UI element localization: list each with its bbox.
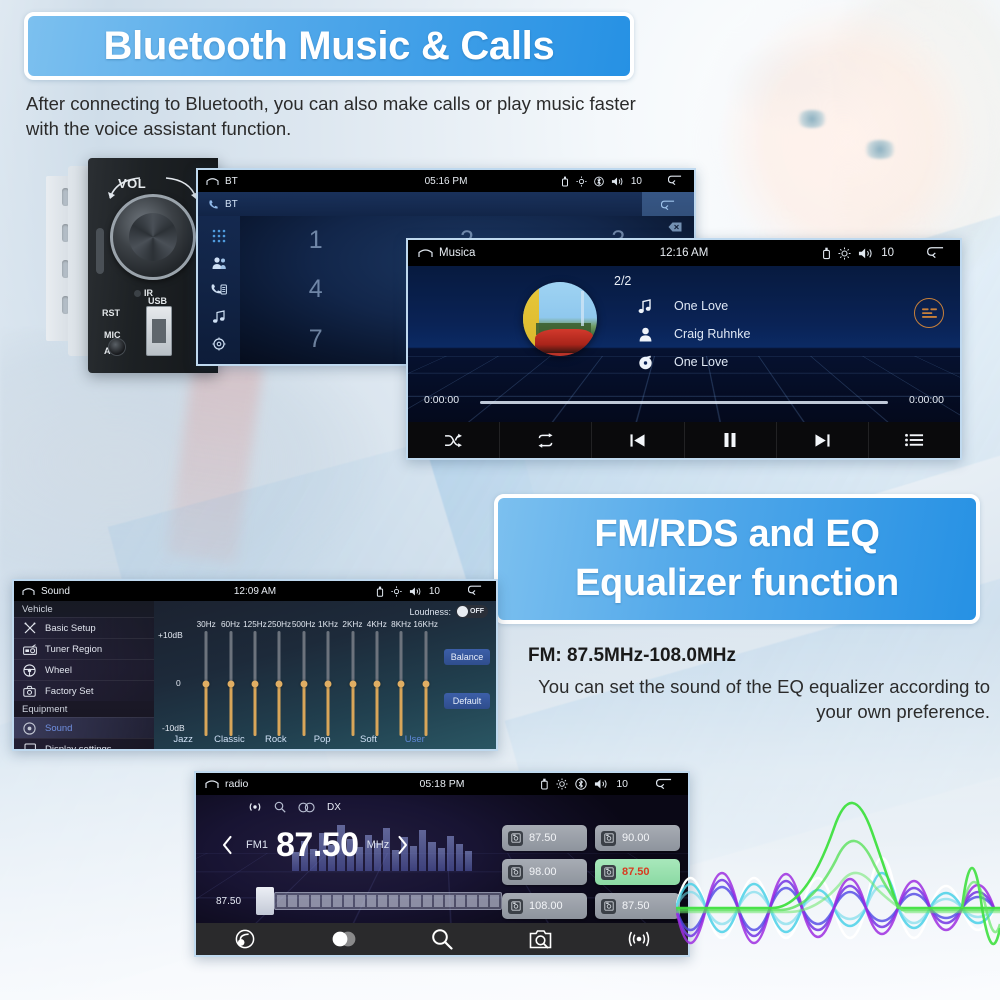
dial-key[interactable]: 1 <box>309 226 323 255</box>
axis-label-mid: 0 <box>176 678 181 688</box>
eq-status-bar: Sound 12:09 AM 10 <box>14 581 496 601</box>
track-title: One Love <box>674 299 728 313</box>
settings-icon[interactable] <box>207 332 231 356</box>
frequency-unit: MHz <box>367 839 390 851</box>
eq-slider[interactable] <box>316 631 340 736</box>
loudness-icon[interactable] <box>294 930 392 948</box>
preset-pop[interactable]: Pop <box>299 734 345 745</box>
eq-slider-group[interactable] <box>194 631 438 736</box>
sidebar-item-basic-setup[interactable]: Basic Setup <box>14 617 154 638</box>
playlist-icon[interactable] <box>869 422 960 458</box>
preset-button[interactable]: 90.00 <box>595 825 680 851</box>
home-icon[interactable] <box>206 177 219 186</box>
album-art <box>523 282 597 356</box>
band-label: 16KHz <box>413 620 438 629</box>
rds-af-icon[interactable] <box>196 929 294 949</box>
bt-back-button[interactable] <box>642 192 694 216</box>
preset-save-icon <box>601 831 616 846</box>
sidebar-label: Factory Set <box>45 686 94 697</box>
dial-key[interactable]: 4 <box>309 275 323 304</box>
bt-volume-level: 10 <box>631 176 642 187</box>
track-artist-row: Craig Ruhnke <box>636 320 750 348</box>
factory-icon <box>22 685 37 697</box>
tools-icon <box>22 622 37 634</box>
back-icon[interactable] <box>656 777 672 789</box>
sound-equalizer-screen[interactable]: Sound 12:09 AM 10 Vehicle B <box>12 579 498 751</box>
display-icon <box>22 743 37 751</box>
eq-slider[interactable] <box>292 631 316 736</box>
eq-slider[interactable] <box>243 631 267 736</box>
sound-waveform-decor <box>676 768 1000 1000</box>
fm-title-line2: Equalizer function <box>575 559 899 608</box>
loudness-control[interactable]: Loudness: OFF <box>409 605 488 618</box>
bt-sub-header: BT <box>198 192 694 216</box>
sidebar-item-display-settings[interactable]: Display settings <box>14 738 154 751</box>
track-album: One Love <box>674 355 728 369</box>
sidebar-item-wheel[interactable]: Wheel <box>14 659 154 680</box>
nav-group-vehicle: Vehicle <box>14 601 154 617</box>
progress-bar-area[interactable]: 0:00:00 0:00:00 <box>424 392 944 412</box>
sidebar-label: Display settings <box>45 744 112 752</box>
preset-value: 87.50 <box>622 866 650 878</box>
fm-rds-title-banner: FM/RDS and EQ Equalizer function <box>494 494 980 624</box>
eq-slider[interactable] <box>194 631 218 736</box>
band-indicator[interactable]: FM1 <box>246 839 268 851</box>
band-label: 250Hz <box>267 620 291 629</box>
dialpad-icon[interactable] <box>207 224 231 248</box>
brightness-icon <box>556 778 568 790</box>
band-label: 2KHz <box>340 620 364 629</box>
current-frequency: 87.50 <box>276 826 359 865</box>
music-transport-bar[interactable] <box>408 422 960 458</box>
track-album-row: One Love <box>636 348 750 376</box>
music-screen-body: 2/2 One Love Craig Ruhnke One Love <box>408 266 960 422</box>
brightness-icon <box>576 176 587 187</box>
preset-value: 108.00 <box>529 900 563 912</box>
loudness-toggle[interactable]: OFF <box>456 605 488 618</box>
band-label: 1KHz <box>316 620 340 629</box>
loudness-state: OFF <box>470 608 484 615</box>
steering-wheel-icon <box>22 664 37 677</box>
volume-icon <box>611 176 624 187</box>
eq-slider[interactable] <box>414 631 438 736</box>
sound-icon <box>22 722 37 735</box>
reset-label: RST <box>102 308 120 318</box>
band-label: 125Hz <box>243 620 267 629</box>
search-icon[interactable] <box>274 801 286 813</box>
preset-save-icon <box>601 865 616 880</box>
eq-screen-body: Vehicle Basic Setup Tuner Region Wheel <box>14 601 496 749</box>
band-label: 500Hz <box>292 620 316 629</box>
sidebar-label: Basic Setup <box>45 623 96 634</box>
preset-save-icon <box>508 899 523 914</box>
preset-value: 87.50 <box>622 900 650 912</box>
axis-label-top: +10dB <box>158 630 183 640</box>
preset-save-icon <box>508 831 523 846</box>
band-label: 4KHz <box>365 620 389 629</box>
sidebar-label: Sound <box>45 723 72 734</box>
bluetooth-icon <box>575 778 587 790</box>
pause-icon[interactable] <box>685 422 777 458</box>
eq-slider[interactable] <box>389 631 413 736</box>
radio-toolbar[interactable] <box>196 923 688 955</box>
bluetooth-icon <box>594 176 604 187</box>
call-log-icon[interactable] <box>207 278 231 302</box>
bt-status-bar: BT 05:16 PM 10 <box>198 170 694 192</box>
eq-preset-row[interactable]: Jazz Classic Rock Pop Soft User <box>160 731 438 747</box>
usb-icon <box>561 176 569 187</box>
eq-slider[interactable] <box>218 631 242 736</box>
fm-description: You can set the sound of the EQ equalize… <box>520 675 990 724</box>
home-icon[interactable] <box>205 779 219 789</box>
home-icon[interactable] <box>418 248 433 258</box>
settings-nav-list[interactable]: Vehicle Basic Setup Tuner Region Wheel <box>14 601 154 749</box>
track-metadata: One Love Craig Ruhnke One Love <box>636 292 750 376</box>
music-source-label: Musica <box>439 247 475 259</box>
next-station-icon[interactable] <box>389 835 415 855</box>
usb-port[interactable] <box>146 306 172 356</box>
backspace-icon[interactable] <box>668 222 682 232</box>
preset-save-icon <box>508 865 523 880</box>
stereo-icon[interactable] <box>298 802 315 813</box>
eq-icon[interactable] <box>914 298 944 328</box>
preset-button-active[interactable]: 87.50 <box>595 859 680 885</box>
elapsed-time: 0:00:00 <box>424 394 459 406</box>
track-artist: Craig Ruhnke <box>674 327 750 341</box>
sidebar-item-sound[interactable]: Sound <box>14 717 154 738</box>
bt-source-label: BT <box>225 176 238 187</box>
music-note-icon <box>636 299 654 314</box>
radio-screen-body: DX FM1 87.50 MHz 87.50 <box>196 795 688 923</box>
progress-track[interactable] <box>480 401 888 404</box>
nav-group-equipment: Equipment <box>14 701 154 717</box>
preset-button-grid[interactable]: 87.50 90.00 98.00 87.50 <box>502 825 680 919</box>
fm-frequency-range: FM: 87.5MHz-108.0MHz <box>528 645 736 667</box>
loudness-label: Loudness: <box>409 607 451 617</box>
frequency-slider-handle[interactable] <box>256 887 274 915</box>
contacts-icon[interactable] <box>207 251 231 275</box>
radio-volume-level: 10 <box>616 778 628 790</box>
rds-icon[interactable] <box>248 801 262 813</box>
back-icon[interactable] <box>927 245 944 258</box>
frequency-slider[interactable]: 87.50 108.00 <box>216 887 516 917</box>
radio-tuner-screen[interactable]: radio 05:18 PM 10 <box>194 771 690 957</box>
usb-icon <box>376 586 384 597</box>
repeat-icon[interactable] <box>500 422 592 458</box>
music-volume-level: 10 <box>881 247 894 259</box>
music-player-screen[interactable]: Musica 12:16 AM 10 2/2 <box>406 238 962 460</box>
preset-button[interactable]: 87.50 <box>595 893 680 919</box>
band-label: 8KHz <box>389 620 413 629</box>
eq-slider[interactable] <box>340 631 364 736</box>
radio-indicator-row: DX <box>248 801 341 813</box>
balance-button[interactable]: Balance <box>444 649 490 665</box>
aux-jack[interactable] <box>108 338 126 356</box>
side-button[interactable] <box>96 228 104 274</box>
background-eye-left <box>795 110 829 128</box>
volume-icon <box>409 586 422 597</box>
range-low-label: 87.50 <box>216 896 241 907</box>
background-eye-right <box>862 140 898 159</box>
eq-volume-level: 10 <box>429 586 440 597</box>
frequency-tuner[interactable]: FM1 87.50 MHz <box>214 821 494 869</box>
back-icon[interactable] <box>468 584 482 595</box>
band-label: 60Hz <box>218 620 242 629</box>
track-index: 2/2 <box>614 274 631 288</box>
dial-key[interactable]: 7 <box>309 325 323 354</box>
brightness-icon <box>391 586 402 597</box>
sidebar-label: Wheel <box>45 665 72 676</box>
shuffle-icon[interactable] <box>408 422 500 458</box>
volume-icon <box>858 247 874 260</box>
preset-button[interactable]: 108.00 <box>502 893 587 919</box>
previous-icon[interactable] <box>592 422 684 458</box>
eq-slider[interactable] <box>365 631 389 736</box>
preset-user[interactable]: User <box>392 734 438 745</box>
radio-icon <box>22 644 37 655</box>
sidebar-label: Tuner Region <box>45 644 102 655</box>
sidebar-item-factory-set[interactable]: Factory Set <box>14 680 154 701</box>
preset-save-icon <box>601 899 616 914</box>
volume-label: VOL <box>118 176 146 191</box>
preset-button[interactable]: 98.00 <box>502 859 587 885</box>
artist-icon <box>636 327 654 342</box>
preset-soft[interactable]: Soft <box>345 734 391 745</box>
brightness-icon <box>838 247 851 260</box>
bt-music-icon[interactable] <box>207 305 231 329</box>
eq-slider[interactable] <box>267 631 291 736</box>
track-title-row: One Love <box>636 292 750 320</box>
fm-title-line1: FM/RDS and EQ <box>594 510 879 559</box>
bluetooth-title-banner: Bluetooth Music & Calls <box>24 12 634 80</box>
scan-icon[interactable] <box>393 928 491 950</box>
preset-classic[interactable]: Classic <box>206 734 252 745</box>
total-duration: 0:00:00 <box>909 394 944 406</box>
bt-side-rail[interactable] <box>198 216 240 364</box>
volume-knob[interactable] <box>110 194 196 280</box>
volume-icon <box>594 778 609 790</box>
usb-icon <box>540 778 549 790</box>
bt-subbar-label: BT <box>225 199 238 210</box>
bluetooth-title-text: Bluetooth Music & Calls <box>104 24 555 69</box>
preset-jazz[interactable]: Jazz <box>160 734 206 745</box>
back-icon[interactable] <box>668 174 682 185</box>
previous-station-icon[interactable] <box>214 835 240 855</box>
band-labels: 30Hz 60Hz 125Hz 250Hz 500Hz 1KHz 2KHz 4K… <box>194 620 438 629</box>
next-icon[interactable] <box>777 422 869 458</box>
equalizer-panel[interactable]: Loudness: OFF 30Hz 60Hz 125Hz 250Hz 500H… <box>154 601 496 749</box>
ir-receiver <box>134 290 141 297</box>
preset-value: 87.50 <box>529 832 557 844</box>
bluetooth-description: After connecting to Bluetooth, you can a… <box>26 92 666 141</box>
preset-value: 98.00 <box>529 866 557 878</box>
phone-icon <box>208 199 219 210</box>
home-icon[interactable] <box>22 587 35 596</box>
radio-status-bar: radio 05:18 PM 10 <box>196 773 688 795</box>
signal-icon[interactable] <box>590 930 688 948</box>
default-button[interactable]: Default <box>444 693 490 709</box>
radio-source-label: radio <box>225 778 248 790</box>
sidebar-item-tuner-region[interactable]: Tuner Region <box>14 638 154 659</box>
dx-label[interactable]: DX <box>327 802 341 813</box>
ir-label: IR <box>144 288 153 298</box>
music-status-bar: Musica 12:16 AM 10 <box>408 240 960 266</box>
preset-value: 90.00 <box>622 832 650 844</box>
usb-icon <box>822 247 831 260</box>
frequency-slider-track[interactable] <box>274 892 502 910</box>
save-scan-icon[interactable] <box>491 929 589 950</box>
eq-source-label: Sound <box>41 586 70 597</box>
preset-button[interactable]: 87.50 <box>502 825 587 851</box>
band-label: 30Hz <box>194 620 218 629</box>
album-disc-icon <box>636 355 654 370</box>
preset-rock[interactable]: Rock <box>253 734 299 745</box>
